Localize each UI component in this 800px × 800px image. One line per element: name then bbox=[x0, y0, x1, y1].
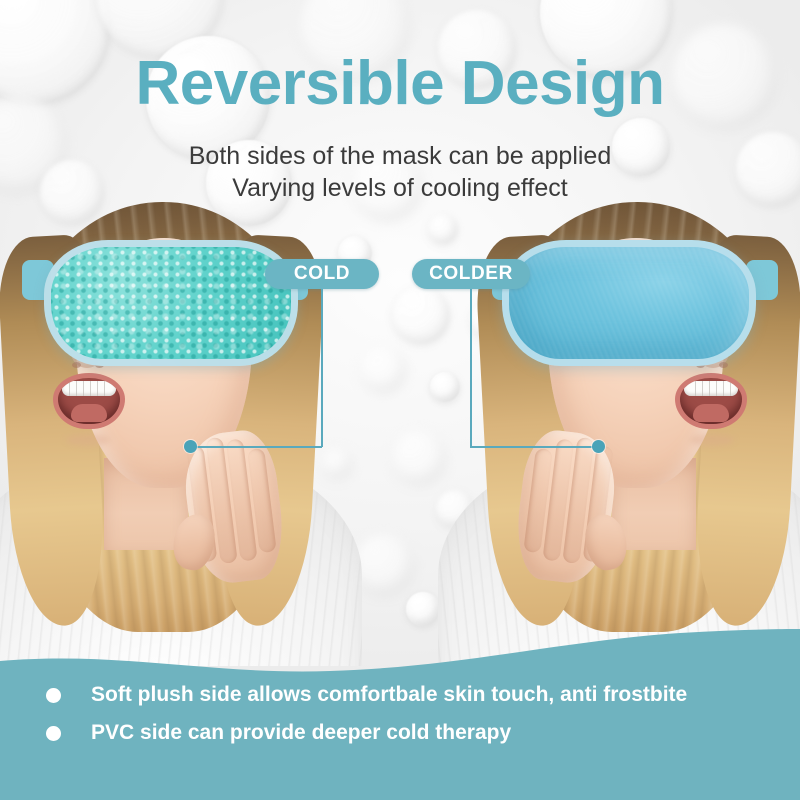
badge-colder-label: COLDER bbox=[429, 263, 513, 285]
badge-colder[interactable]: COLDER bbox=[412, 259, 530, 289]
bullet-text: PVC side can provide deeper cold therapy bbox=[91, 721, 511, 745]
product-infographic: Reversible Design Both sides of the mask… bbox=[0, 0, 800, 800]
callout-dot-cold bbox=[184, 440, 197, 453]
list-item: Soft plush side allows comfortbale skin … bbox=[46, 683, 687, 707]
bullet-icon bbox=[46, 726, 61, 741]
bullet-text: Soft plush side allows comfortbale skin … bbox=[91, 683, 687, 707]
callout-dot-colder bbox=[592, 440, 605, 453]
badge-cold-label: COLD bbox=[294, 263, 350, 285]
leader-line-cold-vertical bbox=[321, 289, 323, 447]
leader-line-colder-vertical bbox=[470, 289, 472, 447]
feature-bullet-list: Soft plush side allows comfortbale skin … bbox=[46, 683, 687, 759]
leader-line-cold-horizontal bbox=[194, 446, 322, 448]
list-item: PVC side can provide deeper cold therapy bbox=[46, 721, 687, 745]
badge-cold[interactable]: COLD bbox=[265, 259, 379, 289]
footer-banner: Soft plush side allows comfortbale skin … bbox=[0, 625, 800, 800]
leader-line-colder-horizontal bbox=[470, 446, 596, 448]
bullet-icon bbox=[46, 688, 61, 703]
